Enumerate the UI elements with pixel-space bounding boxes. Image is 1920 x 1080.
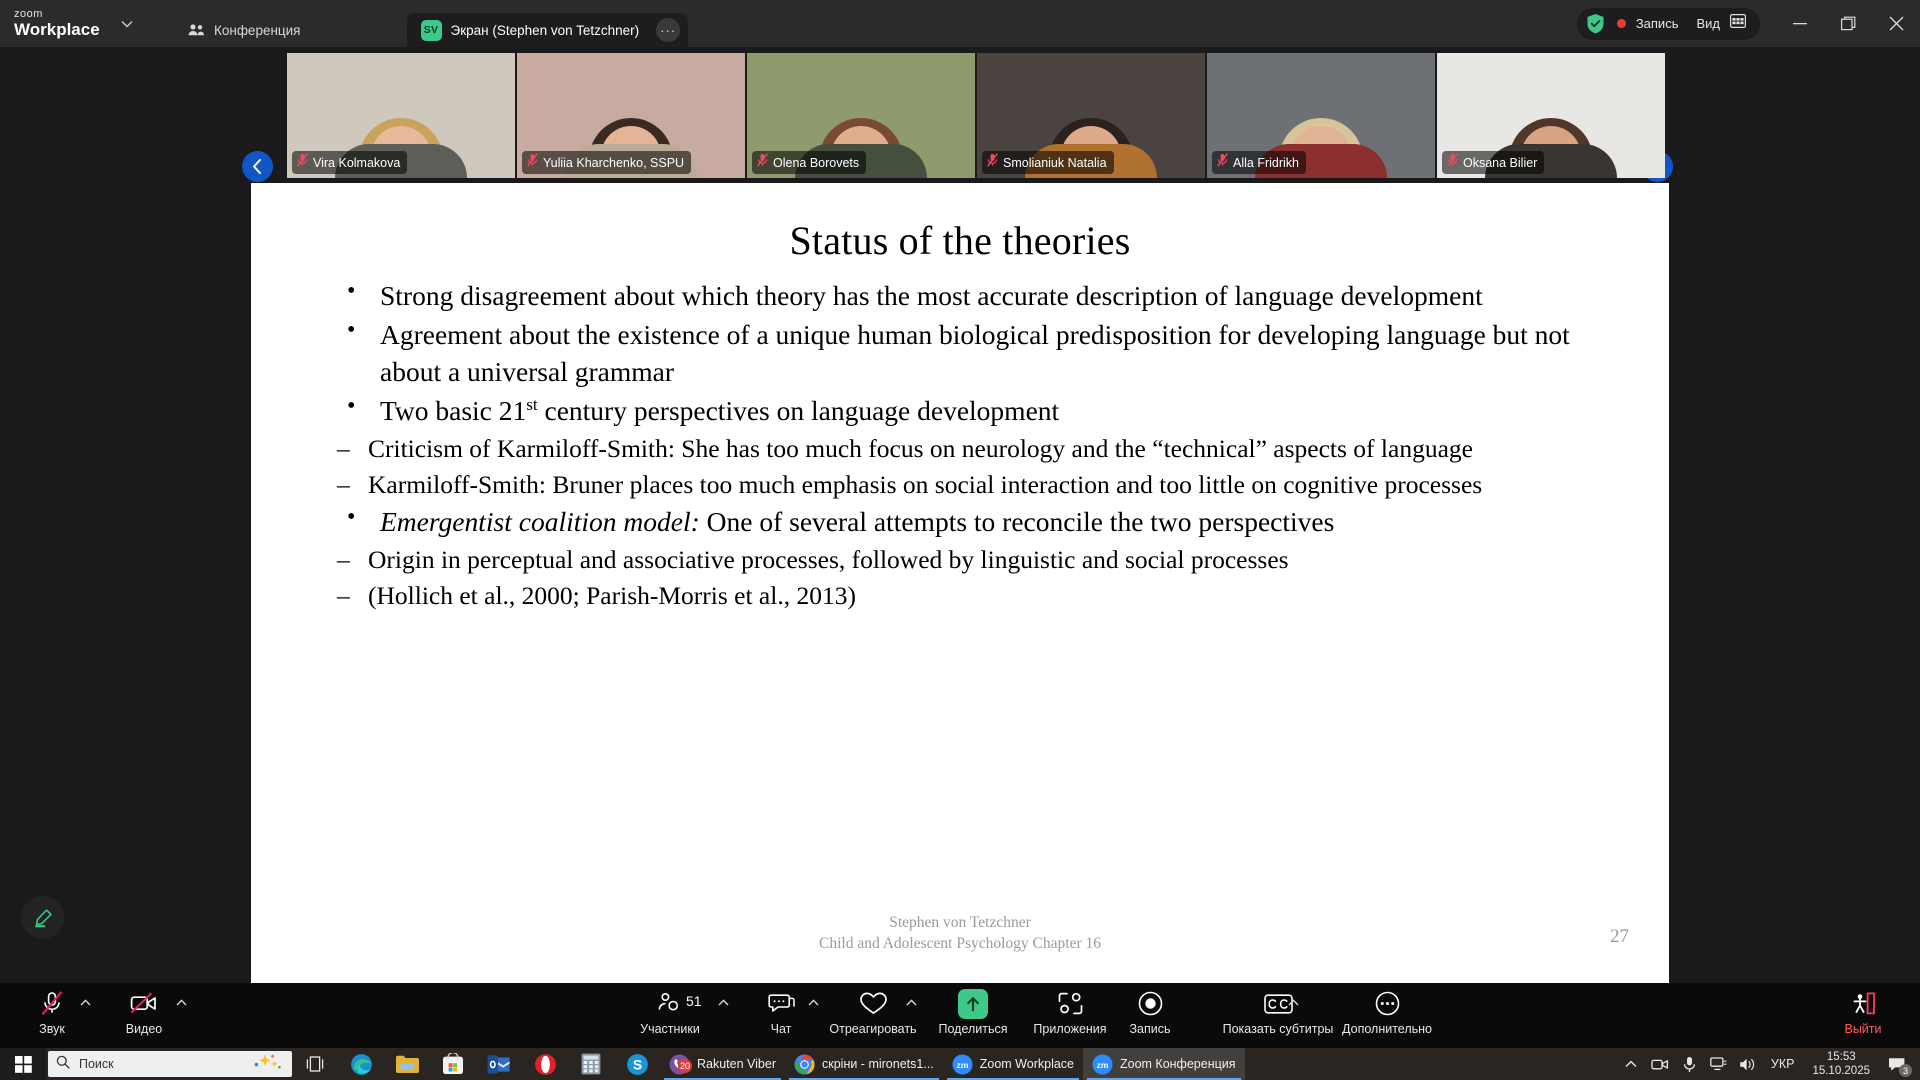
tray-clock[interactable]: 15:53 15.10.2025 xyxy=(1804,1048,1878,1080)
participants-count: 51 xyxy=(686,993,702,1009)
slide-bullet: Emergentist coalition model: One of seve… xyxy=(343,504,1629,540)
microphone-muted-icon xyxy=(1217,153,1228,172)
participant-nameplate: Alla Fridrikh xyxy=(1212,151,1306,174)
participant-thumbnail[interactable]: Olena Borovets xyxy=(747,53,975,178)
titlebar-right-group: Запись Вид xyxy=(1577,0,1920,47)
tab-screen-share[interactable]: SV Экран (Stephen von Tetzchner) ··· xyxy=(407,13,689,47)
participant-thumbnail[interactable]: Smolianiuk Natalia xyxy=(977,53,1205,178)
tab-conference-label: Конференция xyxy=(214,23,301,38)
participants-icon xyxy=(657,989,684,1018)
slide-bullet: Strong disagreement about which theory h… xyxy=(343,278,1629,314)
slide-bullet: Criticism of Karmiloff-Smith: She has to… xyxy=(337,432,1629,466)
slide-bullet-list: Emergentist coalition model: One of seve… xyxy=(343,504,1629,540)
share-screen-icon xyxy=(958,989,988,1018)
taskbar-window-title: скріни - mironets1... xyxy=(822,1057,934,1071)
taskbar-window-title: Zoom Workplace xyxy=(980,1057,1074,1071)
reactions-label: Отреагировать xyxy=(829,1022,916,1036)
task-view-button[interactable] xyxy=(292,1048,338,1080)
participants-button[interactable]: 51 Участники xyxy=(610,989,730,1036)
zoom-logo: zoom Workplace xyxy=(14,9,106,38)
slide-title: Status of the theories xyxy=(291,217,1629,264)
slide-bullet: (Hollich et al., 2000; Parish-Morris et … xyxy=(337,579,1629,613)
notification-center-button[interactable]: 3 xyxy=(1880,1048,1914,1080)
thumbnails-prev-button[interactable] xyxy=(242,151,273,182)
participant-name: Smolianiuk Natalia xyxy=(1003,156,1107,170)
apps-icon xyxy=(1057,989,1084,1018)
tray-microphone-icon[interactable] xyxy=(1676,1048,1703,1080)
slide-footer: Stephen von Tetzchner Child and Adolesce… xyxy=(251,913,1669,955)
record-button[interactable]: Запись xyxy=(1090,989,1210,1036)
tray-network-icon[interactable] xyxy=(1705,1048,1732,1080)
taskbar-window-button[interactable]: zmZoom Конференция xyxy=(1083,1048,1245,1080)
tab-conference[interactable]: Конференция xyxy=(174,13,315,47)
participant-thumbnail[interactable]: Oksana Bilier xyxy=(1437,53,1665,178)
slide-footer-source: Child and Adolescent Psychology Chapter … xyxy=(251,934,1669,955)
participant-nameplate: Olena Borovets xyxy=(752,151,866,174)
recording-label: Запись xyxy=(1636,16,1679,31)
microphone-muted-icon xyxy=(297,153,308,172)
search-input[interactable]: Поиск xyxy=(48,1051,292,1077)
thumbnail-list: Vira KolmakovaYuliia Kharchenko, SSPUOle… xyxy=(287,53,1665,178)
notification-count: 3 xyxy=(1899,1064,1912,1077)
taskbar-window-button[interactable]: скріни - mironets1... xyxy=(785,1048,943,1080)
camera-muted-icon xyxy=(129,989,159,1018)
brand-line-1: zoom xyxy=(14,9,106,20)
restore-button[interactable] xyxy=(1824,0,1872,47)
taskbar-icon-skype[interactable]: S xyxy=(614,1048,660,1080)
clock-time: 15:53 xyxy=(1812,1050,1870,1064)
view-label[interactable]: Вид xyxy=(1696,16,1720,31)
taskbar-app-icon xyxy=(794,1054,815,1075)
microphone-muted-icon xyxy=(987,153,998,172)
svg-text:S: S xyxy=(632,1056,641,1072)
chevron-down-icon[interactable] xyxy=(112,9,142,39)
taskbar-app-icon: 20 xyxy=(669,1054,690,1075)
chat-label: Чат xyxy=(771,1022,792,1036)
record-label: Запись xyxy=(1129,1022,1170,1036)
slide-bullet-list: Origin in perceptual and associative pro… xyxy=(337,543,1629,613)
zoom-title-bar: zoom Workplace Конференция SV Экран (Ste… xyxy=(0,0,1920,47)
slide-bullet: Agreement about the existence of a uniqu… xyxy=(343,317,1629,390)
chat-icon xyxy=(768,989,795,1018)
slide-bullet-list: Strong disagreement about which theory h… xyxy=(343,278,1629,429)
video-options-chevron-icon[interactable] xyxy=(176,997,187,1009)
svg-text:zm: zm xyxy=(956,1060,968,1070)
record-icon xyxy=(1138,989,1163,1018)
view-grid-icon[interactable] xyxy=(1730,14,1746,33)
taskbar-window-list: 20Rakuten Viberскріни - mironets1...zmZo… xyxy=(660,1048,1245,1080)
taskbar-icon-edge[interactable] xyxy=(338,1048,384,1080)
leave-label: Выйти xyxy=(1844,1022,1881,1036)
more-options-button[interactable]: Дополнительно xyxy=(1307,989,1467,1036)
video-label: Видео xyxy=(126,1022,163,1036)
tray-camera-icon[interactable] xyxy=(1647,1048,1674,1080)
slide-bullet-list: Criticism of Karmiloff-Smith: She has to… xyxy=(337,432,1629,502)
taskbar-window-button[interactable]: zmZoom Workplace xyxy=(943,1048,1083,1080)
search-icon xyxy=(56,1055,70,1074)
window-controls xyxy=(1776,0,1920,47)
leave-door-icon xyxy=(1849,989,1877,1018)
share-screen-label: Поделиться xyxy=(938,1022,1007,1036)
tab-screen-label: Экран (Stephen von Tetzchner) xyxy=(451,23,640,38)
search-placeholder: Поиск xyxy=(79,1057,114,1071)
people-icon xyxy=(188,23,205,37)
slide-page-number: 27 xyxy=(1610,926,1629,948)
microphone-muted-icon xyxy=(39,989,65,1018)
participant-thumbnail-strip: Vira KolmakovaYuliia Kharchenko, SSPUOle… xyxy=(0,47,1920,183)
unread-badge: 20 xyxy=(678,1059,692,1073)
participant-thumbnail[interactable]: Alla Fridrikh xyxy=(1207,53,1435,178)
participants-label: Участники xyxy=(640,1022,700,1036)
taskbar-app-icon: zm xyxy=(952,1054,973,1075)
close-button[interactable] xyxy=(1872,0,1920,47)
taskbar-window-title: Rakuten Viber xyxy=(697,1057,776,1071)
participant-nameplate: Smolianiuk Natalia xyxy=(982,151,1114,174)
shared-screen-stage: Status of the theories Strong disagreeme… xyxy=(0,183,1920,983)
taskbar-window-button[interactable]: 20Rakuten Viber xyxy=(660,1048,785,1080)
captions-options-chevron-icon[interactable] xyxy=(1288,997,1299,1009)
slide-bullet: Karmiloff-Smith: Bruner places too much … xyxy=(337,468,1629,502)
participant-thumbnail[interactable]: Vira Kolmakova xyxy=(287,53,515,178)
svg-text:zm: zm xyxy=(1097,1060,1109,1070)
tray-volume-icon[interactable] xyxy=(1734,1048,1761,1080)
slide-body: Strong disagreement about which theory h… xyxy=(291,278,1629,613)
microphone-muted-icon xyxy=(757,153,768,172)
recording-indicator-dot xyxy=(1617,19,1626,28)
windows-taskbar: Поиск xyxy=(0,1048,1920,1080)
tab-more-icon[interactable]: ··· xyxy=(656,18,680,42)
participant-nameplate: Yuliia Kharchenko, SSPU xyxy=(522,151,691,174)
copilot-sparkle-icon[interactable] xyxy=(250,1053,284,1076)
shield-icon xyxy=(1585,12,1607,36)
taskbar-icon-outlook[interactable] xyxy=(476,1048,522,1080)
taskbar-icon-opera[interactable] xyxy=(522,1048,568,1080)
microphone-muted-icon xyxy=(527,153,538,172)
slide-footer-author: Stephen von Tetzchner xyxy=(251,913,1669,934)
microphone-muted-icon xyxy=(1447,153,1458,172)
recording-status-pill[interactable]: Запись Вид xyxy=(1577,8,1760,40)
participant-name: Oksana Bilier xyxy=(1463,156,1537,170)
brand-line-2: Workplace xyxy=(14,21,106,38)
audio-label: Звук xyxy=(39,1022,65,1036)
system-tray: УКР 15:53 15.10.2025 3 xyxy=(1618,1048,1920,1080)
meeting-toolbar: Звук Видео 51 Участники xyxy=(0,983,1920,1048)
heart-icon xyxy=(859,989,888,1018)
tray-language-indicator[interactable]: УКР xyxy=(1763,1057,1803,1071)
leave-meeting-button[interactable]: Выйти xyxy=(1813,989,1913,1036)
participant-nameplate: Oksana Bilier xyxy=(1442,151,1544,174)
more-options-label: Дополнительно xyxy=(1342,1022,1432,1036)
taskbar-window-title: Zoom Конференция xyxy=(1120,1057,1236,1071)
presentation-slide: Status of the theories Strong disagreeme… xyxy=(251,183,1669,983)
participant-name: Alla Fridrikh xyxy=(1233,156,1299,170)
clock-date: 15.10.2025 xyxy=(1812,1064,1870,1078)
taskbar-icon-microsoft-store[interactable] xyxy=(430,1048,476,1080)
participant-thumbnail[interactable]: Yuliia Kharchenko, SSPU xyxy=(517,53,745,178)
participant-name: Olena Borovets xyxy=(773,156,859,170)
participant-nameplate: Vira Kolmakova xyxy=(292,151,407,174)
participant-name: Yuliia Kharchenko, SSPU xyxy=(543,156,684,170)
taskbar-icon-file-explorer[interactable] xyxy=(384,1048,430,1080)
start-button[interactable] xyxy=(0,1048,46,1080)
slide-bullet: Two basic 21st century perspectives on l… xyxy=(343,393,1629,429)
participant-name: Vira Kolmakova xyxy=(313,156,400,170)
more-dots-icon xyxy=(1375,989,1400,1018)
avatar-initials: SV xyxy=(421,20,442,41)
annotate-button[interactable] xyxy=(21,896,64,939)
taskbar-icon-calculator[interactable] xyxy=(568,1048,614,1080)
tray-expand-icon[interactable] xyxy=(1618,1048,1645,1080)
minimize-button[interactable] xyxy=(1776,0,1824,47)
taskbar-app-icon: zm xyxy=(1092,1054,1113,1075)
slide-bullet: Origin in perceptual and associative pro… xyxy=(337,543,1629,577)
